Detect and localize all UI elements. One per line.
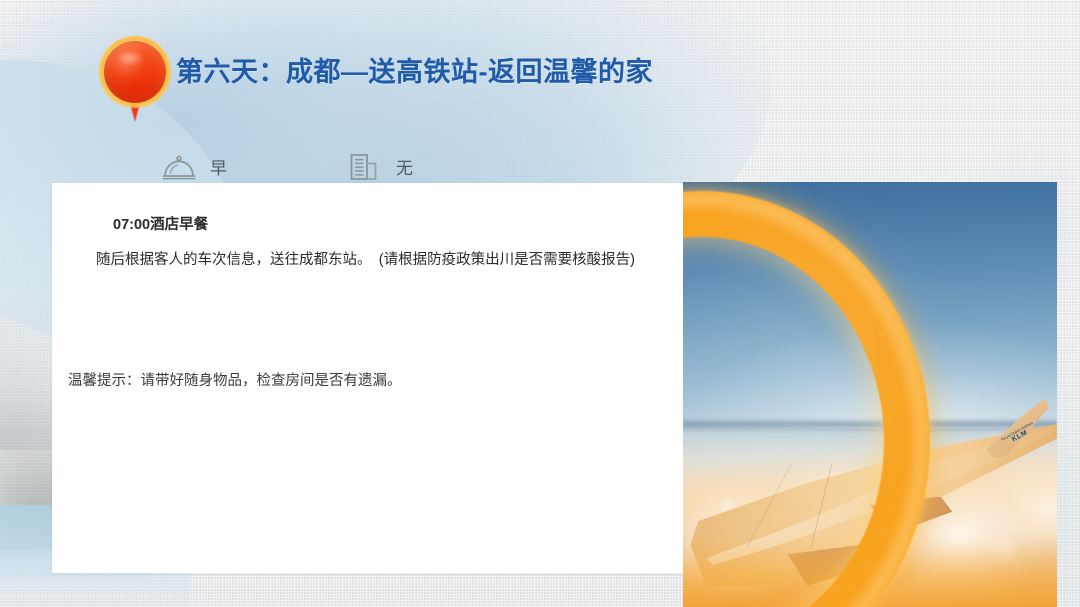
page-title: 第六天：成都—送高铁站-返回温馨的家 [176, 50, 653, 89]
map-pin-icon [99, 36, 171, 122]
hotel-building-icon [348, 152, 382, 182]
meta-label-hotel: 无 [396, 160, 413, 177]
itinerary-text-block: 07:00酒店早餐 随后根据客人的车次信息，送往成都东站。 (请根据防疫政策出川… [68, 208, 670, 278]
slide-canvas: 第六天：成都—送高铁站-返回温馨的家 早 无 [0, 0, 1080, 607]
itinerary-card: 07:00酒店早餐 随后根据客人的车次信息，送往成都东站。 (请根据防疫政策出川… [52, 183, 684, 573]
meta-item-hotel: 无 [348, 152, 413, 182]
meta-label-meal: 早 [210, 160, 227, 177]
itinerary-line-detail: 随后根据客人的车次信息，送往成都东站。 (请根据防疫政策出川是否需要核酸报告) [68, 243, 670, 278]
itinerary-meta-row: 早 无 [162, 152, 413, 182]
meal-cloche-icon [162, 152, 196, 182]
meta-item-meal: 早 [162, 152, 227, 182]
itinerary-line-time: 07:00酒店早餐 [68, 208, 670, 243]
map-pin-highlight [117, 50, 143, 66]
warm-tip-text: 温馨提示：请带好随身物品，检查房间是否有遗漏。 [68, 370, 402, 392]
airplane-window-wing-photo: Royal Dutch Airlines KLM [683, 182, 1057, 607]
